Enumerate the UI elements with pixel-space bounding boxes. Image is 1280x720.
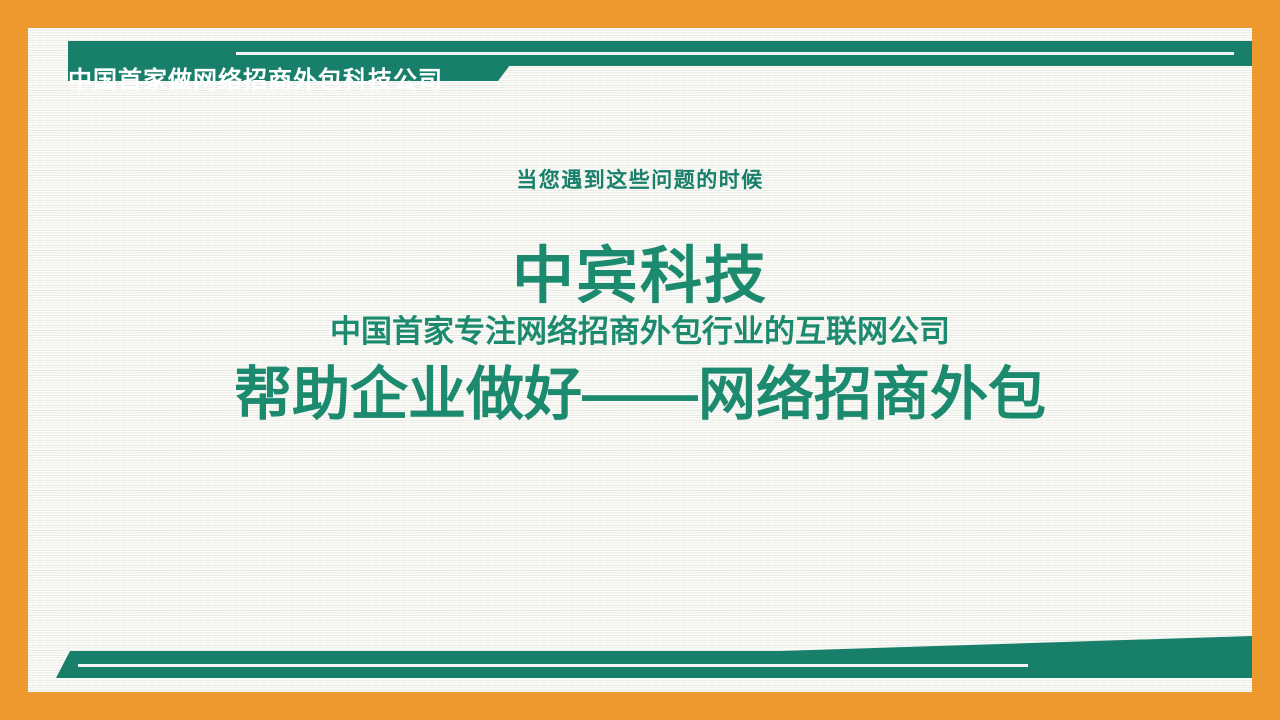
slide-paper-background: 中国首家做网络招商外包科技公司 当您遇到这些问题的时候 中宾科技 中国首家专注网… [28,28,1252,692]
brand-tagline: 中国首家专注网络招商外包行业的互联网公司 [28,316,1252,347]
slide-root: 中国首家做网络招商外包科技公司 当您遇到这些问题的时候 中宾科技 中国首家专注网… [0,0,1280,720]
slide-content: 当您遇到这些问题的时候 中宾科技 中国首家专注网络招商外包行业的互联网公司 帮助… [28,28,1252,692]
kicker-text: 当您遇到这些问题的时候 [28,170,1252,191]
brand-title: 中宾科技 [28,246,1252,308]
main-headline: 帮助企业做好——网络招商外包 [28,362,1252,429]
